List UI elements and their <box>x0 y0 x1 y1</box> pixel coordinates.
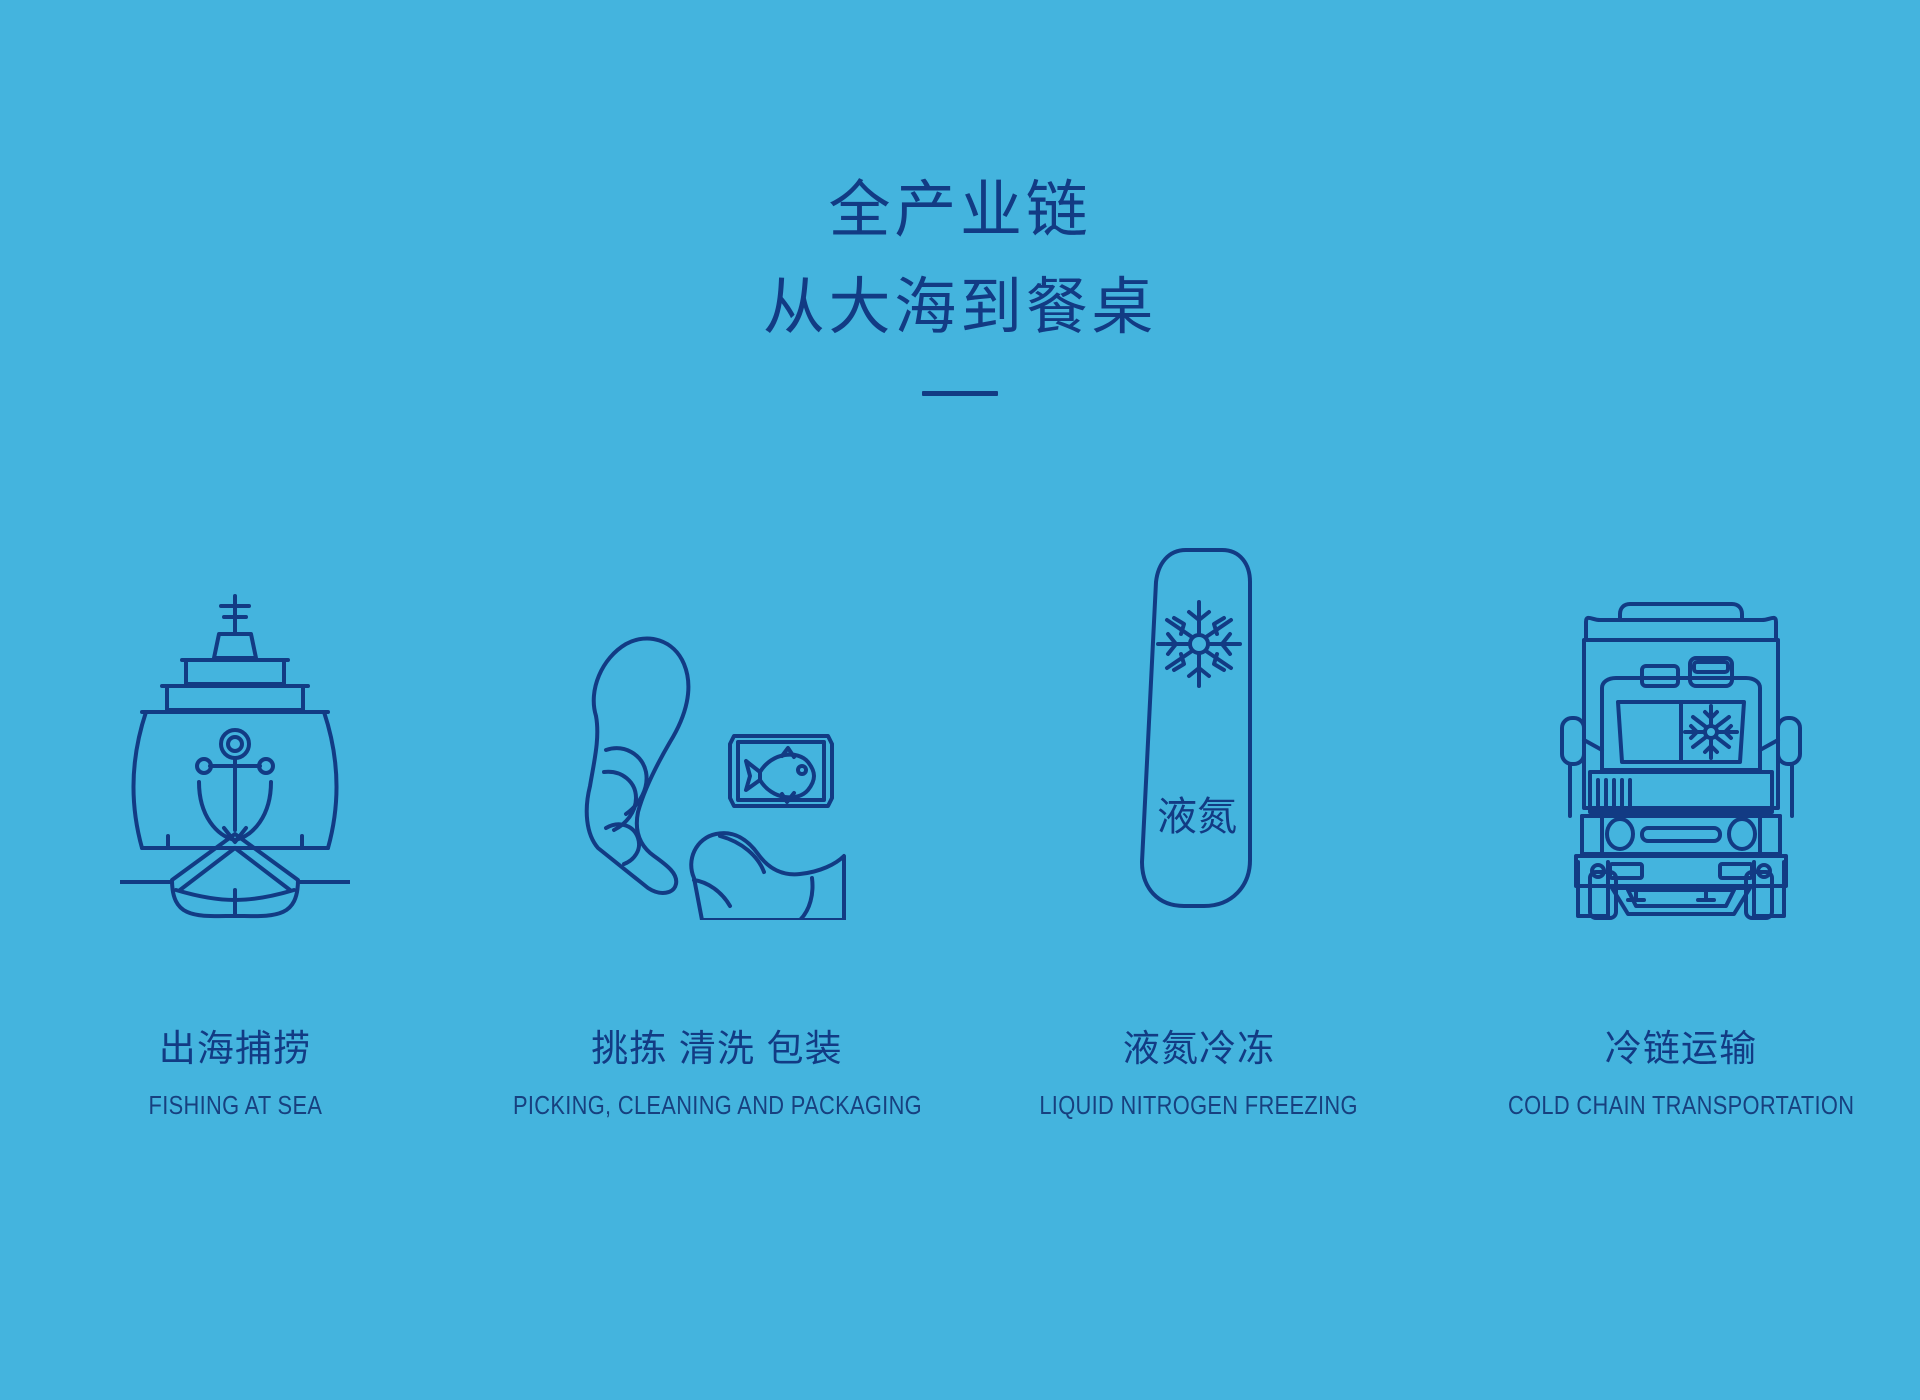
step-label-cn: 冷链运输 <box>1605 1018 1757 1072</box>
step-label-en: PICKING, CLEANING AND PACKAGING <box>512 1090 921 1121</box>
step-label-en: COLD CHAIN TRANSPORTATION <box>1508 1090 1854 1121</box>
liquid-nitrogen-tank-icon: 液氮 <box>964 520 1434 920</box>
step-label-cn: 挑拣 清洗 包装 <box>591 1018 842 1072</box>
tank-label-text: 液氮 <box>1157 795 1237 839</box>
refrigerated-truck-icon <box>1446 520 1916 920</box>
snowflake-icon <box>1158 602 1240 686</box>
page-root: 全产业链 从大海到餐桌 <box>0 0 1920 1400</box>
page-title-line-2: 从大海到餐桌 <box>0 267 1920 348</box>
hands-holding-packaged-fish-icon <box>482 520 952 920</box>
snowflake-icon <box>1685 706 1737 758</box>
step-label-cn: 液氮冷冻 <box>1123 1018 1275 1072</box>
page-title-line-1: 全产业链 <box>0 170 1920 251</box>
step-cold-chain-transportation: 冷链运输 COLD CHAIN TRANSPORTATION <box>1446 520 1916 1121</box>
page-heading: 全产业链 从大海到餐桌 <box>0 170 1920 396</box>
step-picking-cleaning-packaging: 挑拣 清洗 包装 PICKING, CLEANING AND PACKAGING <box>482 520 952 1121</box>
fishing-boat-with-anchor-icon <box>0 520 470 920</box>
step-fishing-at-sea: 出海捕捞 FISHING AT SEA <box>0 520 470 1121</box>
step-label-cn: 出海捕捞 <box>159 1018 311 1072</box>
title-divider <box>922 391 998 396</box>
step-label-en: FISHING AT SEA <box>148 1090 322 1121</box>
step-liquid-nitrogen-freezing: 液氮 液氮冷冻 LIQUID NITROGEN FREEZING <box>964 520 1434 1121</box>
process-steps-row: 出海捕捞 FISHING AT SEA <box>0 520 1920 1121</box>
step-label-en: LIQUID NITROGEN FREEZING <box>1040 1090 1359 1121</box>
